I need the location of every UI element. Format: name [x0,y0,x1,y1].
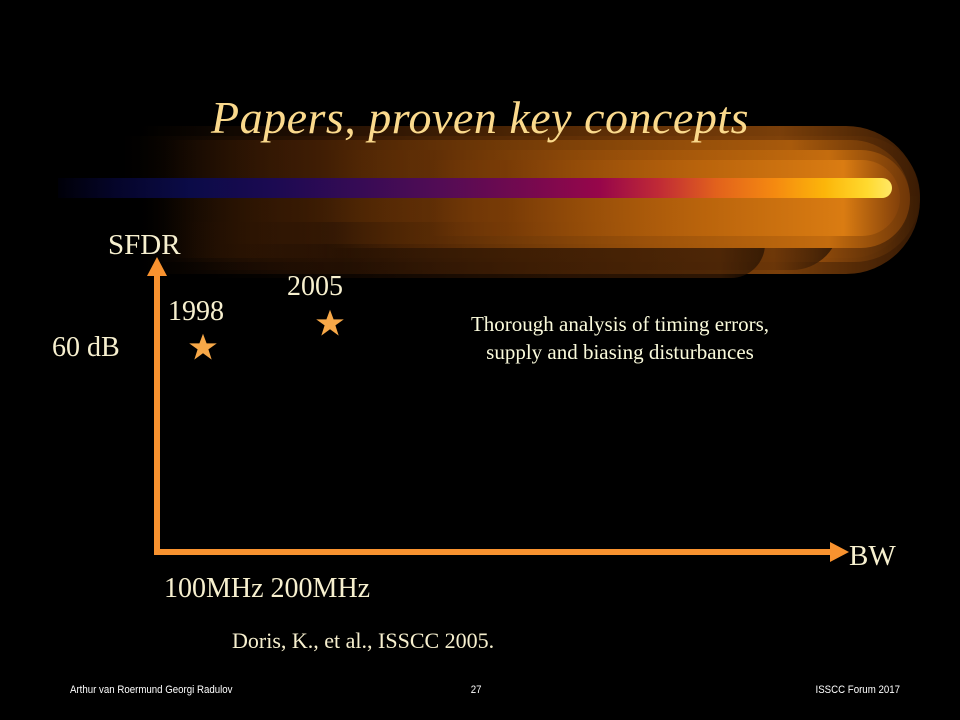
footer-slide-number: 27 [471,684,482,696]
y-axis-label: SFDR [108,229,181,262]
chart-area: SFDR BW 60 dB 1998 2005 100MHz 200MHz Th… [0,0,960,720]
annotation-line-2: supply and biasing disturbances [420,338,820,366]
x-axis-arrow-icon [830,542,849,562]
citation-text: Doris, K., et al., ISSCC 2005. [232,628,494,654]
star-marker-2005 [315,308,345,338]
annotation-line-1: Thorough analysis of timing errors, [420,310,820,338]
slide-footer: Arthur van Roermund Georgi Radulov 27 IS… [0,682,960,704]
x-axis-label: BW [849,540,896,573]
slide-canvas: Papers, proven key concepts SFDR BW 60 d… [0,0,960,720]
y-axis-tick-label: 60 dB [52,332,120,364]
x-axis-tick-labels: 100MHz 200MHz [164,573,370,605]
data-point-label-1998: 1998 [168,296,224,328]
footer-event: ISSCC Forum 2017 [816,684,900,696]
footer-authors: Arthur van Roermund Georgi Radulov [70,684,232,696]
chart-annotation: Thorough analysis of timing errors, supp… [420,310,820,367]
y-axis-line [154,272,160,555]
star-marker-1998 [188,332,218,362]
x-axis-line [154,549,834,555]
data-point-label-2005: 2005 [287,271,343,303]
